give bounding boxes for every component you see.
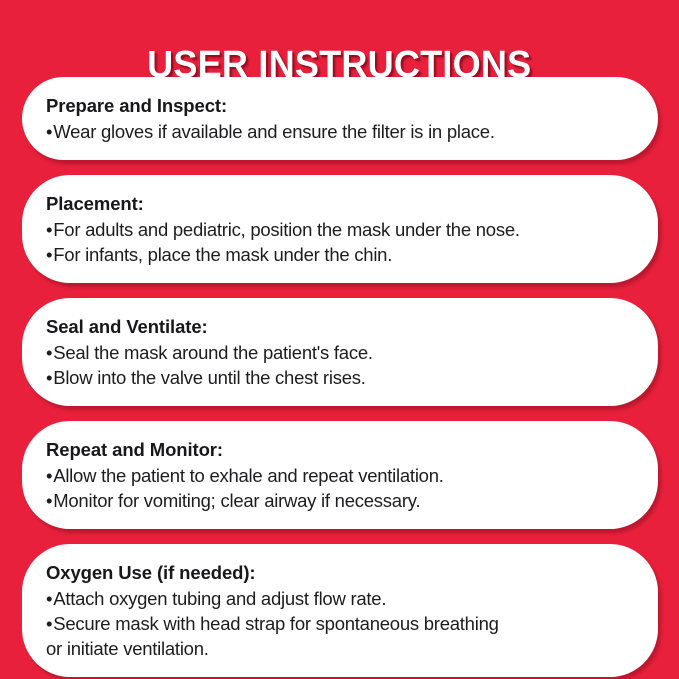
card-bullet-text: For infants, place the mask under the ch… (53, 244, 392, 265)
bullet-icon: • (46, 488, 52, 513)
card-bullet-item: •Secure mask with head strap for spontan… (46, 611, 632, 636)
instruction-card-list: Prepare and Inspect: •Wear gloves if ava… (22, 77, 658, 677)
bullet-icon: • (46, 340, 52, 365)
bullet-icon: • (46, 611, 52, 636)
card-bullet-item: •Blow into the valve until the chest ris… (46, 365, 632, 390)
card-bullet-text: Allow the patient to exhale and repeat v… (53, 465, 443, 486)
card-bullet-text: Seal the mask around the patient's face. (53, 342, 373, 363)
card-bullet-list: •Wear gloves if available and ensure the… (46, 119, 632, 144)
card-bullet-text: Attach oxygen tubing and adjust flow rat… (53, 588, 386, 609)
bullet-icon: • (46, 217, 52, 242)
bullet-icon: • (46, 463, 52, 488)
bullet-icon: • (46, 242, 52, 267)
bullet-icon: • (46, 119, 52, 144)
card-bullet-continuation: or initiate ventilation. (46, 636, 632, 661)
bullet-icon: • (46, 365, 52, 390)
instructions-poster: USER INSTRUCTIONS Prepare and Inspect: •… (0, 0, 679, 679)
instruction-card: Repeat and Monitor: •Allow the patient t… (22, 421, 658, 529)
card-bullet-item: •Seal the mask around the patient's face… (46, 340, 632, 365)
card-bullet-list: •For adults and pediatric, position the … (46, 217, 632, 267)
card-bullet-item: •Wear gloves if available and ensure the… (46, 119, 632, 144)
card-bullet-text: Secure mask with head strap for spontane… (53, 613, 498, 634)
card-bullet-text: Blow into the valve until the chest rise… (53, 367, 365, 388)
card-heading: Repeat and Monitor: (46, 437, 632, 462)
card-bullet-list: •Seal the mask around the patient's face… (46, 340, 632, 390)
card-bullet-text: Monitor for vomiting; clear airway if ne… (53, 490, 420, 511)
instruction-card: Oxygen Use (if needed): •Attach oxygen t… (22, 544, 658, 677)
card-bullet-text: For adults and pediatric, position the m… (53, 219, 520, 240)
instruction-card: Prepare and Inspect: •Wear gloves if ava… (22, 77, 658, 160)
card-bullet-item: •For adults and pediatric, position the … (46, 217, 632, 242)
card-heading: Placement: (46, 191, 632, 216)
card-heading: Oxygen Use (if needed): (46, 560, 632, 585)
instruction-card: Seal and Ventilate: •Seal the mask aroun… (22, 298, 658, 406)
card-bullet-item: •Allow the patient to exhale and repeat … (46, 463, 632, 488)
card-bullet-list: •Allow the patient to exhale and repeat … (46, 463, 632, 513)
card-bullet-item: •Monitor for vomiting; clear airway if n… (46, 488, 632, 513)
card-bullet-text: Wear gloves if available and ensure the … (53, 121, 495, 142)
card-heading: Prepare and Inspect: (46, 93, 632, 118)
card-heading: Seal and Ventilate: (46, 314, 632, 339)
card-bullet-item: •Attach oxygen tubing and adjust flow ra… (46, 586, 632, 611)
card-bullet-item: •For infants, place the mask under the c… (46, 242, 632, 267)
instruction-card: Placement: •For adults and pediatric, po… (22, 175, 658, 283)
bullet-icon: • (46, 586, 52, 611)
card-bullet-list: •Attach oxygen tubing and adjust flow ra… (46, 586, 632, 661)
